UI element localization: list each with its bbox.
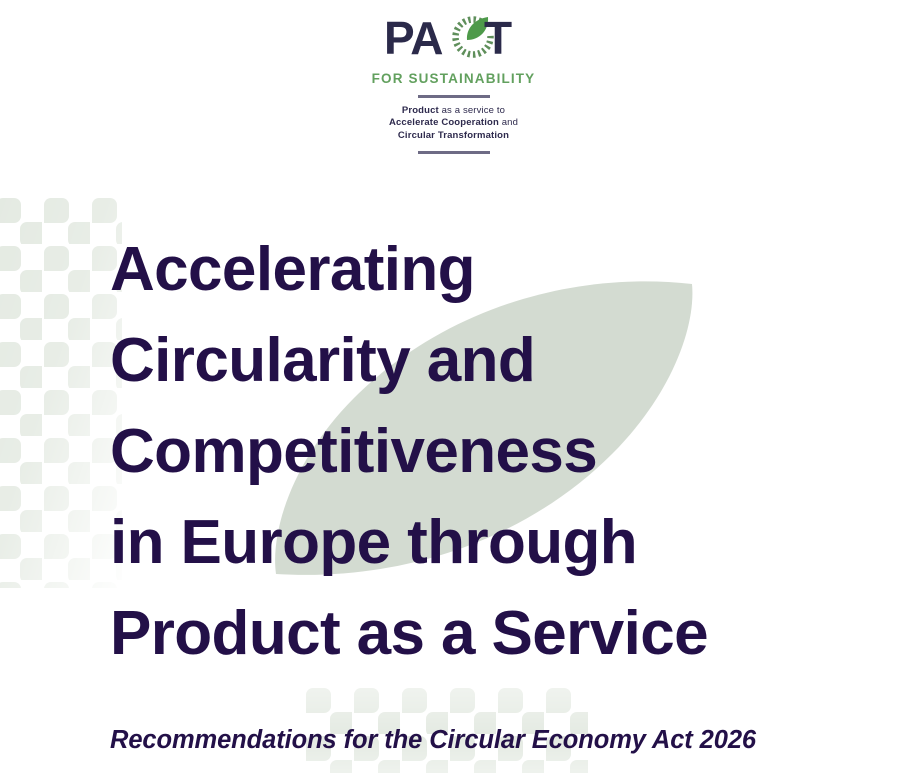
tagline-2-regular: and	[499, 117, 518, 128]
title-line-2: Circularity and	[110, 315, 810, 406]
tagline-2-bold: Accelerate Cooperation	[389, 117, 499, 128]
report-cover-page: PA T FOR SUSTAINABILITY Product as a ser…	[0, 0, 907, 773]
logo-sustainability-line: FOR SUSTAINABILITY	[0, 71, 907, 86]
leaf-tile-pattern-left	[0, 196, 122, 588]
page-subtitle: Recommendations for the Circular Economy…	[110, 726, 756, 755]
logo-tagline-line-2: Accelerate Cooperation and	[0, 117, 907, 130]
logo-divider-bottom	[418, 151, 490, 154]
logo-tagline-line-1: Product as a service to	[0, 105, 907, 118]
pact-wordmark: PA T	[384, 12, 524, 64]
logo-tagline-line-3: Circular Transformation	[0, 130, 907, 143]
tagline-1-regular: as a service to	[439, 105, 505, 116]
page-title: Accelerating Circularity and Competitive…	[110, 224, 810, 679]
logo-tagline: Product as a service to Accelerate Coope…	[0, 105, 907, 143]
title-line-4: in Europe through	[110, 497, 810, 588]
title-line-1: Accelerating	[110, 224, 810, 315]
tagline-1-bold: Product	[402, 105, 439, 116]
svg-text:T: T	[484, 12, 512, 64]
svg-text:PA: PA	[384, 12, 443, 64]
title-line-5: Product as a Service	[110, 588, 810, 679]
tagline-3-bold: Circular Transformation	[398, 130, 509, 141]
pact-logo: PA T FOR SUSTAINABILITY Product as a ser…	[0, 12, 907, 154]
logo-divider-top	[418, 95, 490, 98]
title-line-3: Competitiveness	[110, 406, 810, 497]
